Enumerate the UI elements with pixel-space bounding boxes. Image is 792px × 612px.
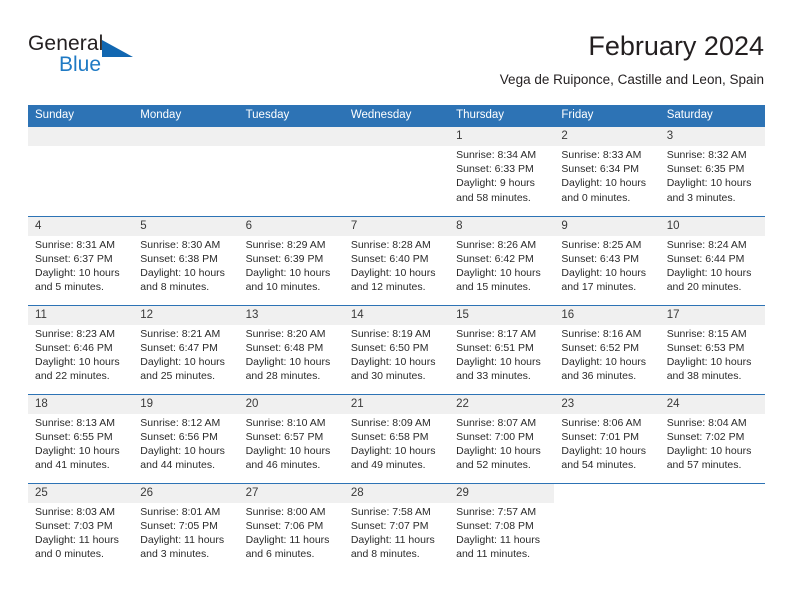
day-cell-inner: 3Sunrise: 8:32 AMSunset: 6:35 PMDaylight…	[660, 127, 765, 216]
triangle-flag-icon	[102, 40, 133, 57]
day-sun-info: Sunrise: 8:03 AMSunset: 7:03 PMDaylight:…	[28, 503, 133, 562]
sunset-text: Sunset: 6:48 PM	[246, 341, 338, 355]
sunrise-text: Sunrise: 8:33 AM	[561, 148, 653, 162]
calendar-day-cell-empty	[239, 127, 344, 216]
daylight-text: Daylight: 11 hours and 8 minutes.	[351, 533, 443, 561]
sunset-text: Sunset: 7:01 PM	[561, 430, 653, 444]
calendar-day-cell[interactable]: 6Sunrise: 8:29 AMSunset: 6:39 PMDaylight…	[239, 216, 344, 305]
day-cell-inner	[344, 127, 449, 216]
calendar-day-cell[interactable]: 22Sunrise: 8:07 AMSunset: 7:00 PMDayligh…	[449, 394, 554, 483]
calendar-day-cell[interactable]: 16Sunrise: 8:16 AMSunset: 6:52 PMDayligh…	[554, 305, 659, 394]
sunrise-text: Sunrise: 7:57 AM	[456, 505, 548, 519]
daylight-text: Daylight: 10 hours and 52 minutes.	[456, 444, 548, 472]
day-sun-info: Sunrise: 8:20 AMSunset: 6:48 PMDaylight:…	[239, 325, 344, 384]
sunset-text: Sunset: 7:08 PM	[456, 519, 548, 533]
day-cell-inner: 19Sunrise: 8:12 AMSunset: 6:56 PMDayligh…	[133, 395, 238, 483]
day-number: 4	[28, 217, 133, 236]
day-number	[554, 484, 659, 503]
sunset-text: Sunset: 6:57 PM	[246, 430, 338, 444]
sunrise-text: Sunrise: 8:28 AM	[351, 238, 443, 252]
day-sun-info: Sunrise: 8:21 AMSunset: 6:47 PMDaylight:…	[133, 325, 238, 384]
calendar-day-cell[interactable]: 1Sunrise: 8:34 AMSunset: 6:33 PMDaylight…	[449, 127, 554, 216]
day-sun-info: Sunrise: 8:29 AMSunset: 6:39 PMDaylight:…	[239, 236, 344, 295]
day-sun-info: Sunrise: 8:24 AMSunset: 6:44 PMDaylight:…	[660, 236, 765, 295]
calendar-day-cell[interactable]: 2Sunrise: 8:33 AMSunset: 6:34 PMDaylight…	[554, 127, 659, 216]
sunset-text: Sunset: 6:52 PM	[561, 341, 653, 355]
brand-logo: General Blue	[28, 32, 228, 88]
daylight-text: Daylight: 11 hours and 11 minutes.	[456, 533, 548, 561]
sunset-text: Sunset: 6:58 PM	[351, 430, 443, 444]
sunset-text: Sunset: 6:51 PM	[456, 341, 548, 355]
brand-name-blue: Blue	[59, 53, 101, 77]
day-number: 21	[344, 395, 449, 414]
sunrise-text: Sunrise: 8:24 AM	[667, 238, 759, 252]
sunset-text: Sunset: 6:40 PM	[351, 252, 443, 266]
daylight-text: Daylight: 10 hours and 36 minutes.	[561, 355, 653, 383]
day-cell-inner: 17Sunrise: 8:15 AMSunset: 6:53 PMDayligh…	[660, 306, 765, 394]
day-number: 20	[239, 395, 344, 414]
calendar-day-cell[interactable]: 23Sunrise: 8:06 AMSunset: 7:01 PMDayligh…	[554, 394, 659, 483]
day-cell-inner: 6Sunrise: 8:29 AMSunset: 6:39 PMDaylight…	[239, 217, 344, 305]
sunset-text: Sunset: 6:35 PM	[667, 162, 759, 176]
day-sun-info: Sunrise: 8:30 AMSunset: 6:38 PMDaylight:…	[133, 236, 238, 295]
sunrise-text: Sunrise: 8:04 AM	[667, 416, 759, 430]
day-number: 24	[660, 395, 765, 414]
sunrise-text: Sunrise: 8:20 AM	[246, 327, 338, 341]
weekday-header-friday: Friday	[554, 105, 659, 127]
day-number: 19	[133, 395, 238, 414]
day-cell-inner: 2Sunrise: 8:33 AMSunset: 6:34 PMDaylight…	[554, 127, 659, 216]
daylight-text: Daylight: 10 hours and 0 minutes.	[561, 176, 653, 204]
sunrise-text: Sunrise: 8:03 AM	[35, 505, 127, 519]
sunset-text: Sunset: 6:39 PM	[246, 252, 338, 266]
daylight-text: Daylight: 10 hours and 20 minutes.	[667, 266, 759, 294]
day-sun-info: Sunrise: 7:57 AMSunset: 7:08 PMDaylight:…	[449, 503, 554, 562]
sunrise-text: Sunrise: 8:15 AM	[667, 327, 759, 341]
day-cell-inner: 27Sunrise: 8:00 AMSunset: 7:06 PMDayligh…	[239, 484, 344, 573]
day-cell-inner: 4Sunrise: 8:31 AMSunset: 6:37 PMDaylight…	[28, 217, 133, 305]
day-cell-inner: 22Sunrise: 8:07 AMSunset: 7:00 PMDayligh…	[449, 395, 554, 483]
daylight-text: Daylight: 10 hours and 33 minutes.	[456, 355, 548, 383]
calendar-page: General Blue February 2024 Vega de Ruipo…	[0, 0, 792, 612]
day-cell-inner: 13Sunrise: 8:20 AMSunset: 6:48 PMDayligh…	[239, 306, 344, 394]
day-cell-inner	[239, 127, 344, 216]
calendar-day-cell[interactable]: 19Sunrise: 8:12 AMSunset: 6:56 PMDayligh…	[133, 394, 238, 483]
day-sun-info: Sunrise: 8:23 AMSunset: 6:46 PMDaylight:…	[28, 325, 133, 384]
day-sun-info: Sunrise: 8:34 AMSunset: 6:33 PMDaylight:…	[449, 146, 554, 205]
daylight-text: Daylight: 10 hours and 28 minutes.	[246, 355, 338, 383]
sunset-text: Sunset: 7:05 PM	[140, 519, 232, 533]
sunrise-text: Sunrise: 8:25 AM	[561, 238, 653, 252]
day-cell-inner: 7Sunrise: 8:28 AMSunset: 6:40 PMDaylight…	[344, 217, 449, 305]
calendar-day-cell-empty	[133, 127, 238, 216]
sunset-text: Sunset: 7:03 PM	[35, 519, 127, 533]
sunrise-text: Sunrise: 8:12 AM	[140, 416, 232, 430]
day-cell-inner: 25Sunrise: 8:03 AMSunset: 7:03 PMDayligh…	[28, 484, 133, 573]
sunrise-text: Sunrise: 8:34 AM	[456, 148, 548, 162]
calendar-week-row: 25Sunrise: 8:03 AMSunset: 7:03 PMDayligh…	[28, 483, 765, 572]
sunrise-text: Sunrise: 8:21 AM	[140, 327, 232, 341]
sunset-text: Sunset: 6:46 PM	[35, 341, 127, 355]
calendar-day-cell[interactable]: 20Sunrise: 8:10 AMSunset: 6:57 PMDayligh…	[239, 394, 344, 483]
sunset-text: Sunset: 6:33 PM	[456, 162, 548, 176]
sunset-text: Sunset: 6:34 PM	[561, 162, 653, 176]
calendar-body: 1Sunrise: 8:34 AMSunset: 6:33 PMDaylight…	[28, 127, 765, 572]
day-cell-inner	[660, 484, 765, 573]
day-number: 23	[554, 395, 659, 414]
day-number: 14	[344, 306, 449, 325]
calendar-day-cell[interactable]: 26Sunrise: 8:01 AMSunset: 7:05 PMDayligh…	[133, 483, 238, 572]
calendar-week-row: 11Sunrise: 8:23 AMSunset: 6:46 PMDayligh…	[28, 305, 765, 394]
daylight-text: Daylight: 11 hours and 3 minutes.	[140, 533, 232, 561]
day-cell-inner: 20Sunrise: 8:10 AMSunset: 6:57 PMDayligh…	[239, 395, 344, 483]
day-sun-info: Sunrise: 8:26 AMSunset: 6:42 PMDaylight:…	[449, 236, 554, 295]
day-number: 2	[554, 127, 659, 146]
day-cell-inner: 18Sunrise: 8:13 AMSunset: 6:55 PMDayligh…	[28, 395, 133, 483]
sunset-text: Sunset: 7:00 PM	[456, 430, 548, 444]
daylight-text: Daylight: 10 hours and 5 minutes.	[35, 266, 127, 294]
day-cell-inner: 9Sunrise: 8:25 AMSunset: 6:43 PMDaylight…	[554, 217, 659, 305]
calendar-day-cell[interactable]: 12Sunrise: 8:21 AMSunset: 6:47 PMDayligh…	[133, 305, 238, 394]
sunrise-text: Sunrise: 8:26 AM	[456, 238, 548, 252]
day-number: 7	[344, 217, 449, 236]
day-number	[344, 127, 449, 146]
daylight-text: Daylight: 10 hours and 22 minutes.	[35, 355, 127, 383]
sunset-text: Sunset: 6:56 PM	[140, 430, 232, 444]
day-sun-info: Sunrise: 8:31 AMSunset: 6:37 PMDaylight:…	[28, 236, 133, 295]
daylight-text: Daylight: 10 hours and 8 minutes.	[140, 266, 232, 294]
calendar-day-cell[interactable]: 28Sunrise: 7:58 AMSunset: 7:07 PMDayligh…	[344, 483, 449, 572]
day-sun-info: Sunrise: 8:15 AMSunset: 6:53 PMDaylight:…	[660, 325, 765, 384]
day-sun-info: Sunrise: 8:28 AMSunset: 6:40 PMDaylight:…	[344, 236, 449, 295]
sunset-text: Sunset: 7:02 PM	[667, 430, 759, 444]
sunrise-text: Sunrise: 8:17 AM	[456, 327, 548, 341]
day-number: 26	[133, 484, 238, 503]
day-cell-inner: 24Sunrise: 8:04 AMSunset: 7:02 PMDayligh…	[660, 395, 765, 483]
calendar-week-row: 18Sunrise: 8:13 AMSunset: 6:55 PMDayligh…	[28, 394, 765, 483]
sunset-text: Sunset: 6:44 PM	[667, 252, 759, 266]
daylight-text: Daylight: 10 hours and 46 minutes.	[246, 444, 338, 472]
weekday-header-row: Sunday Monday Tuesday Wednesday Thursday…	[28, 105, 765, 127]
calendar-day-cell[interactable]: 15Sunrise: 8:17 AMSunset: 6:51 PMDayligh…	[449, 305, 554, 394]
day-cell-inner: 1Sunrise: 8:34 AMSunset: 6:33 PMDaylight…	[449, 127, 554, 216]
sunrise-text: Sunrise: 8:06 AM	[561, 416, 653, 430]
calendar-day-cell[interactable]: 14Sunrise: 8:19 AMSunset: 6:50 PMDayligh…	[344, 305, 449, 394]
sunset-text: Sunset: 6:42 PM	[456, 252, 548, 266]
sunrise-text: Sunrise: 8:13 AM	[35, 416, 127, 430]
daylight-text: Daylight: 10 hours and 3 minutes.	[667, 176, 759, 204]
daylight-text: Daylight: 10 hours and 12 minutes.	[351, 266, 443, 294]
sunset-text: Sunset: 6:47 PM	[140, 341, 232, 355]
calendar-day-cell[interactable]: 18Sunrise: 8:13 AMSunset: 6:55 PMDayligh…	[28, 394, 133, 483]
sunrise-text: Sunrise: 8:30 AM	[140, 238, 232, 252]
day-number: 15	[449, 306, 554, 325]
sunrise-text: Sunrise: 8:10 AM	[246, 416, 338, 430]
day-number: 5	[133, 217, 238, 236]
day-sun-info: Sunrise: 8:01 AMSunset: 7:05 PMDaylight:…	[133, 503, 238, 562]
daylight-text: Daylight: 10 hours and 25 minutes.	[140, 355, 232, 383]
day-number: 13	[239, 306, 344, 325]
sunset-text: Sunset: 6:38 PM	[140, 252, 232, 266]
day-number: 29	[449, 484, 554, 503]
day-number: 8	[449, 217, 554, 236]
calendar-day-cell[interactable]: 7Sunrise: 8:28 AMSunset: 6:40 PMDaylight…	[344, 216, 449, 305]
sunrise-text: Sunrise: 7:58 AM	[351, 505, 443, 519]
day-number	[133, 127, 238, 146]
sunrise-text: Sunrise: 8:31 AM	[35, 238, 127, 252]
day-number	[660, 484, 765, 503]
sunset-text: Sunset: 6:50 PM	[351, 341, 443, 355]
day-sun-info: Sunrise: 8:10 AMSunset: 6:57 PMDaylight:…	[239, 414, 344, 473]
sunrise-text: Sunrise: 8:09 AM	[351, 416, 443, 430]
sunset-text: Sunset: 7:07 PM	[351, 519, 443, 533]
title-block: February 2024 Vega de Ruiponce, Castille…	[500, 30, 764, 90]
calendar-day-cell[interactable]: 25Sunrise: 8:03 AMSunset: 7:03 PMDayligh…	[28, 483, 133, 572]
calendar-day-cell[interactable]: 29Sunrise: 7:57 AMSunset: 7:08 PMDayligh…	[449, 483, 554, 572]
daylight-text: Daylight: 9 hours and 58 minutes.	[456, 176, 548, 204]
calendar-day-cell[interactable]: 21Sunrise: 8:09 AMSunset: 6:58 PMDayligh…	[344, 394, 449, 483]
sunset-text: Sunset: 6:53 PM	[667, 341, 759, 355]
day-number: 6	[239, 217, 344, 236]
calendar-day-cell[interactable]: 24Sunrise: 8:04 AMSunset: 7:02 PMDayligh…	[660, 394, 765, 483]
sunset-text: Sunset: 6:37 PM	[35, 252, 127, 266]
day-number: 16	[554, 306, 659, 325]
day-cell-inner: 28Sunrise: 7:58 AMSunset: 7:07 PMDayligh…	[344, 484, 449, 573]
daylight-text: Daylight: 10 hours and 30 minutes.	[351, 355, 443, 383]
day-sun-info: Sunrise: 8:07 AMSunset: 7:00 PMDaylight:…	[449, 414, 554, 473]
day-cell-inner: 12Sunrise: 8:21 AMSunset: 6:47 PMDayligh…	[133, 306, 238, 394]
calendar-day-cell[interactable]: 13Sunrise: 8:20 AMSunset: 6:48 PMDayligh…	[239, 305, 344, 394]
sunrise-text: Sunrise: 8:23 AM	[35, 327, 127, 341]
daylight-text: Daylight: 10 hours and 41 minutes.	[35, 444, 127, 472]
calendar-table: Sunday Monday Tuesday Wednesday Thursday…	[28, 105, 765, 572]
day-cell-inner: 29Sunrise: 7:57 AMSunset: 7:08 PMDayligh…	[449, 484, 554, 573]
day-number	[239, 127, 344, 146]
sunrise-text: Sunrise: 8:29 AM	[246, 238, 338, 252]
day-number: 12	[133, 306, 238, 325]
day-number: 1	[449, 127, 554, 146]
location-subtitle: Vega de Ruiponce, Castille and Leon, Spa…	[500, 70, 764, 90]
day-sun-info: Sunrise: 8:06 AMSunset: 7:01 PMDaylight:…	[554, 414, 659, 473]
calendar-day-cell[interactable]: 10Sunrise: 8:24 AMSunset: 6:44 PMDayligh…	[660, 216, 765, 305]
day-number: 10	[660, 217, 765, 236]
day-cell-inner: 10Sunrise: 8:24 AMSunset: 6:44 PMDayligh…	[660, 217, 765, 305]
weekday-header-sunday: Sunday	[28, 105, 133, 127]
day-cell-inner: 14Sunrise: 8:19 AMSunset: 6:50 PMDayligh…	[344, 306, 449, 394]
day-number	[28, 127, 133, 146]
calendar-day-cell[interactable]: 9Sunrise: 8:25 AMSunset: 6:43 PMDaylight…	[554, 216, 659, 305]
sunrise-text: Sunrise: 8:00 AM	[246, 505, 338, 519]
weekday-header-monday: Monday	[133, 105, 238, 127]
calendar-day-cell[interactable]: 17Sunrise: 8:15 AMSunset: 6:53 PMDayligh…	[660, 305, 765, 394]
day-sun-info: Sunrise: 8:17 AMSunset: 6:51 PMDaylight:…	[449, 325, 554, 384]
day-sun-info: Sunrise: 8:09 AMSunset: 6:58 PMDaylight:…	[344, 414, 449, 473]
calendar-day-cell[interactable]: 4Sunrise: 8:31 AMSunset: 6:37 PMDaylight…	[28, 216, 133, 305]
sunset-text: Sunset: 7:06 PM	[246, 519, 338, 533]
sunset-text: Sunset: 6:55 PM	[35, 430, 127, 444]
daylight-text: Daylight: 11 hours and 6 minutes.	[246, 533, 338, 561]
calendar-week-row: 1Sunrise: 8:34 AMSunset: 6:33 PMDaylight…	[28, 127, 765, 216]
day-cell-inner	[28, 127, 133, 216]
daylight-text: Daylight: 10 hours and 44 minutes.	[140, 444, 232, 472]
daylight-text: Daylight: 10 hours and 49 minutes.	[351, 444, 443, 472]
daylight-text: Daylight: 10 hours and 57 minutes.	[667, 444, 759, 472]
day-sun-info: Sunrise: 8:13 AMSunset: 6:55 PMDaylight:…	[28, 414, 133, 473]
day-sun-info: Sunrise: 8:16 AMSunset: 6:52 PMDaylight:…	[554, 325, 659, 384]
day-number: 11	[28, 306, 133, 325]
day-sun-info: Sunrise: 7:58 AMSunset: 7:07 PMDaylight:…	[344, 503, 449, 562]
calendar-day-cell[interactable]: 3Sunrise: 8:32 AMSunset: 6:35 PMDaylight…	[660, 127, 765, 216]
day-cell-inner: 21Sunrise: 8:09 AMSunset: 6:58 PMDayligh…	[344, 395, 449, 483]
page-header: General Blue February 2024 Vega de Ruipo…	[28, 30, 764, 92]
day-number: 28	[344, 484, 449, 503]
day-number: 27	[239, 484, 344, 503]
day-number: 9	[554, 217, 659, 236]
daylight-text: Daylight: 10 hours and 17 minutes.	[561, 266, 653, 294]
day-cell-inner: 15Sunrise: 8:17 AMSunset: 6:51 PMDayligh…	[449, 306, 554, 394]
day-cell-inner: 11Sunrise: 8:23 AMSunset: 6:46 PMDayligh…	[28, 306, 133, 394]
day-cell-inner: 23Sunrise: 8:06 AMSunset: 7:01 PMDayligh…	[554, 395, 659, 483]
day-sun-info: Sunrise: 8:33 AMSunset: 6:34 PMDaylight:…	[554, 146, 659, 205]
calendar-day-cell-empty	[554, 483, 659, 572]
day-cell-inner: 16Sunrise: 8:16 AMSunset: 6:52 PMDayligh…	[554, 306, 659, 394]
calendar-day-cell[interactable]: 8Sunrise: 8:26 AMSunset: 6:42 PMDaylight…	[449, 216, 554, 305]
weekday-header-wednesday: Wednesday	[344, 105, 449, 127]
day-sun-info: Sunrise: 8:19 AMSunset: 6:50 PMDaylight:…	[344, 325, 449, 384]
day-number: 18	[28, 395, 133, 414]
sunrise-text: Sunrise: 8:16 AM	[561, 327, 653, 341]
calendar-day-cell[interactable]: 5Sunrise: 8:30 AMSunset: 6:38 PMDaylight…	[133, 216, 238, 305]
day-cell-inner: 26Sunrise: 8:01 AMSunset: 7:05 PMDayligh…	[133, 484, 238, 573]
daylight-text: Daylight: 11 hours and 0 minutes.	[35, 533, 127, 561]
sunrise-text: Sunrise: 8:19 AM	[351, 327, 443, 341]
weekday-header-tuesday: Tuesday	[239, 105, 344, 127]
day-number: 3	[660, 127, 765, 146]
daylight-text: Daylight: 10 hours and 10 minutes.	[246, 266, 338, 294]
calendar-day-cell-empty	[660, 483, 765, 572]
calendar-week-row: 4Sunrise: 8:31 AMSunset: 6:37 PMDaylight…	[28, 216, 765, 305]
weekday-header-thursday: Thursday	[449, 105, 554, 127]
daylight-text: Daylight: 10 hours and 54 minutes.	[561, 444, 653, 472]
day-number: 22	[449, 395, 554, 414]
sunrise-text: Sunrise: 8:07 AM	[456, 416, 548, 430]
page-title: February 2024	[500, 30, 764, 62]
daylight-text: Daylight: 10 hours and 38 minutes.	[667, 355, 759, 383]
sunrise-text: Sunrise: 8:32 AM	[667, 148, 759, 162]
day-number: 25	[28, 484, 133, 503]
calendar-day-cell-empty	[28, 127, 133, 216]
calendar-day-cell[interactable]: 11Sunrise: 8:23 AMSunset: 6:46 PMDayligh…	[28, 305, 133, 394]
day-sun-info: Sunrise: 8:32 AMSunset: 6:35 PMDaylight:…	[660, 146, 765, 205]
day-sun-info: Sunrise: 8:00 AMSunset: 7:06 PMDaylight:…	[239, 503, 344, 562]
sunrise-text: Sunrise: 8:01 AM	[140, 505, 232, 519]
weekday-header-saturday: Saturday	[660, 105, 765, 127]
daylight-text: Daylight: 10 hours and 15 minutes.	[456, 266, 548, 294]
day-sun-info: Sunrise: 8:25 AMSunset: 6:43 PMDaylight:…	[554, 236, 659, 295]
day-cell-inner: 5Sunrise: 8:30 AMSunset: 6:38 PMDaylight…	[133, 217, 238, 305]
day-number: 17	[660, 306, 765, 325]
calendar-day-cell-empty	[344, 127, 449, 216]
sunset-text: Sunset: 6:43 PM	[561, 252, 653, 266]
day-sun-info: Sunrise: 8:12 AMSunset: 6:56 PMDaylight:…	[133, 414, 238, 473]
day-sun-info: Sunrise: 8:04 AMSunset: 7:02 PMDaylight:…	[660, 414, 765, 473]
calendar-day-cell[interactable]: 27Sunrise: 8:00 AMSunset: 7:06 PMDayligh…	[239, 483, 344, 572]
day-cell-inner	[554, 484, 659, 573]
day-cell-inner: 8Sunrise: 8:26 AMSunset: 6:42 PMDaylight…	[449, 217, 554, 305]
day-cell-inner	[133, 127, 238, 216]
